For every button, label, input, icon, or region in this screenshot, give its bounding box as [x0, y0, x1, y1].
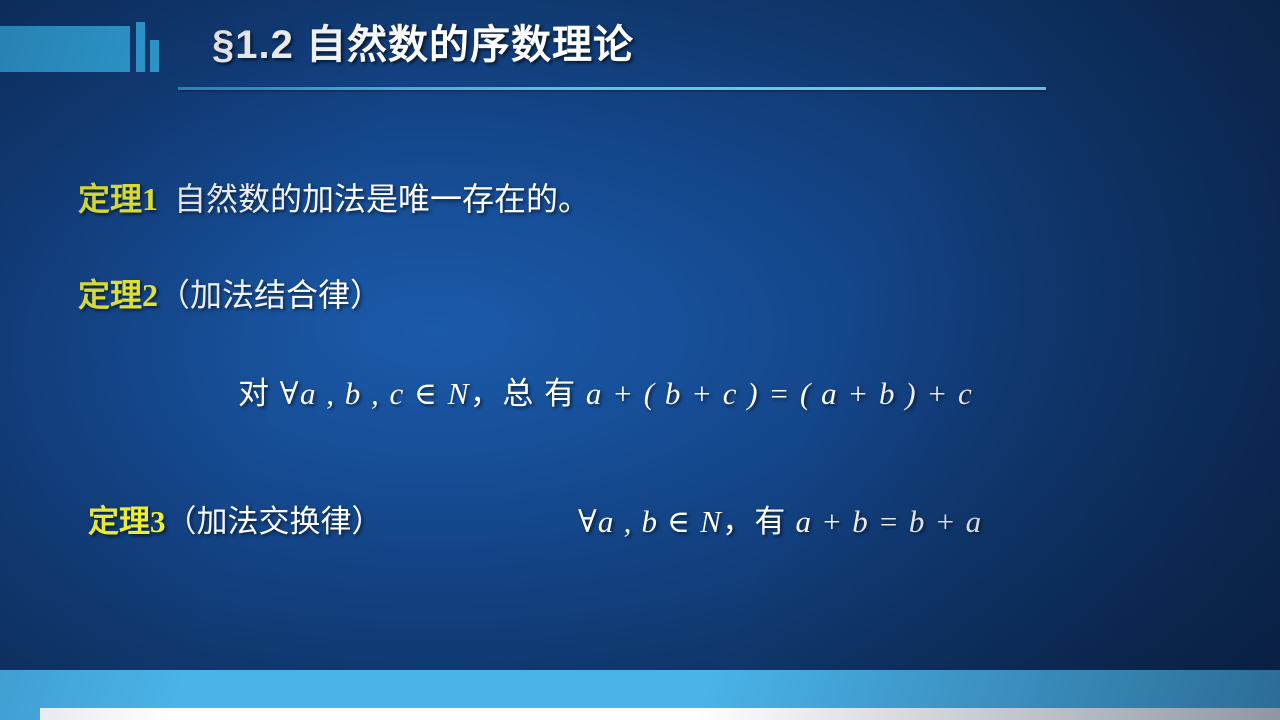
formula-variables: a , b , c	[300, 376, 405, 411]
forall-symbol-2: ∀	[578, 504, 598, 539]
theorem-1-line: 定理1自然数的加法是唯一存在的。	[78, 174, 590, 220]
theorem-2-line: 定理2（加法结合律）	[78, 270, 382, 316]
formula-middle: ，总 有	[470, 376, 577, 411]
formula-equation: a + ( b + c ) = ( a + b ) + c	[586, 376, 973, 411]
theorem-2-text: （加法结合律）	[158, 277, 382, 313]
formula-set: N	[448, 376, 470, 411]
theorem-3-text: （加法交换律）	[166, 504, 383, 539]
element-of-symbol: ∈	[414, 376, 438, 411]
header-tick-short	[150, 40, 159, 72]
header-tick-tall	[136, 22, 145, 72]
formula2-equation: a + b = b + a	[795, 504, 982, 539]
formula-prefix: 对	[238, 376, 271, 411]
theorem-3-line: 定理3（加法交换律）	[88, 496, 383, 541]
formula2-set: N	[700, 504, 722, 539]
element-of-symbol-2: ∈	[667, 504, 691, 539]
theorem-1-text: 自然数的加法是唯一存在的。	[174, 181, 590, 217]
theorem-3-formula: ∀a , b ∈ N，有 a + b = b + a	[578, 496, 982, 541]
header-accent-block	[0, 26, 130, 72]
theorem-2-formula: 对 ∀a , b , c ∈ N，总 有 a + ( b + c ) = ( a…	[238, 368, 973, 413]
formula2-variables: a , b	[598, 504, 658, 539]
title-underline-rule	[178, 87, 1046, 90]
slide-title: §1.2 自然数的序数理论	[212, 18, 634, 72]
theorem-3-label: 定理3	[88, 504, 166, 539]
formula2-middle: ，有	[722, 504, 786, 539]
footer-notch	[40, 708, 1280, 720]
forall-symbol: ∀	[280, 376, 300, 411]
theorem-1-label: 定理1	[78, 181, 158, 217]
theorem-2-label: 定理2	[78, 277, 158, 313]
slide-canvas: §1.2 自然数的序数理论 定理1自然数的加法是唯一存在的。 定理2（加法结合律…	[0, 0, 1280, 720]
